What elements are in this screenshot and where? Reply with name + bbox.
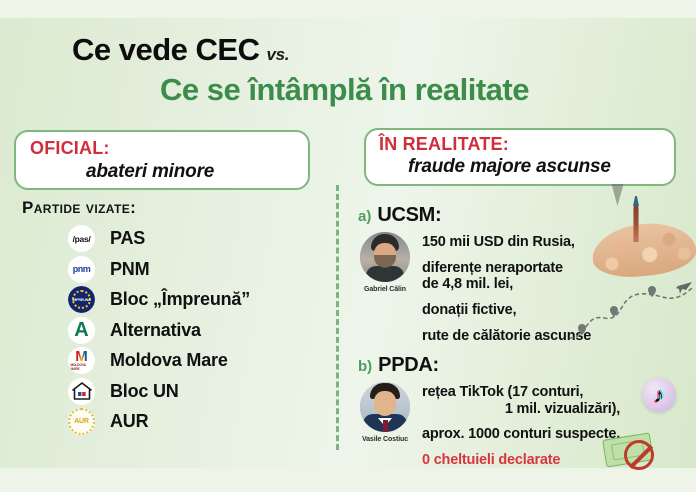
title-line-1-text: Ce vede CEC: [72, 32, 259, 67]
reality-kicker: ÎN REALITATE:: [379, 134, 509, 155]
official-subtitle: abateri minore: [86, 161, 214, 183]
impreuna-logo-icon: ÎMPREUNĂ: [68, 286, 95, 313]
eu-stars-icon: ÎMPREUNĂ: [72, 290, 91, 309]
official-kicker: OFICIAL:: [30, 138, 110, 159]
aur-logo-text: AUR: [74, 418, 89, 425]
case-line-highlight: 0 cheltuieli declarate: [422, 452, 620, 469]
case-line: aprox. 1000 conturi suspecte,: [422, 426, 620, 443]
list-item[interactable]: ÎMPREUNĂ Bloc „Împreună”: [68, 285, 318, 314]
dotted-travel-route-icon: [566, 280, 696, 346]
alternativa-logo-icon: A: [68, 317, 95, 344]
reality-callout: ÎN REALITATE: fraude majore ascunse: [364, 128, 676, 186]
page-title: Ce vede CECvs. Ce se întâmplă în realita…: [0, 28, 696, 116]
party-name: PAS: [110, 228, 145, 249]
official-callout: OFICIAL: abateri minore: [14, 130, 310, 190]
moldova-mare-logo-subtext: MOLDOVA MARE: [71, 363, 93, 371]
case-line: rețea TikTok (17 conturi, 1 mil. vizuali…: [422, 384, 620, 417]
list-item[interactable]: pnm PNM: [68, 255, 318, 284]
title-line-2: Ce se întâmplă în realitate: [160, 72, 529, 108]
pnm-logo-icon: pnm: [68, 256, 95, 283]
person-name: Gabriel Călin: [364, 286, 406, 293]
case-header: b) PPDA:: [358, 354, 688, 377]
party-name: AUR: [110, 411, 148, 432]
tiktok-note-glyph: ♪: [654, 385, 665, 406]
house-icon: [71, 381, 93, 401]
bloc-un-logo-icon: [68, 378, 95, 405]
alternativa-logo-text: A: [74, 320, 88, 340]
money-prohibited-icon: [604, 430, 662, 470]
person-name: Vasile Costiuc: [362, 436, 408, 443]
case-line-part: rețea TikTok (17 conturi,: [422, 384, 583, 400]
case-lines: rețea TikTok (17 conturi, 1 mil. vizuali…: [422, 382, 620, 478]
parties-label: Partide vizate:: [22, 198, 136, 218]
list-item[interactable]: AUR AUR: [68, 407, 318, 436]
party-name: Bloc „Împreună”: [110, 289, 250, 310]
pnm-logo-text: pnm: [73, 264, 91, 274]
avatar: [360, 382, 410, 432]
party-name: Bloc UN: [110, 381, 179, 402]
avatar-block: Gabriel Călin: [358, 232, 412, 353]
case-line-part: diferențe neraportate: [422, 260, 563, 276]
aur-circle-icon: AUR: [68, 408, 95, 435]
vertical-divider: [336, 185, 339, 450]
avatar-block: Vasile Costiuc: [358, 382, 412, 478]
avatar: [360, 232, 410, 282]
party-name: Alternativa: [110, 320, 201, 341]
list-item[interactable]: M MOLDOVA MARE Moldova Mare: [68, 346, 318, 375]
eu-circle-icon: ÎMPREUNĂ: [68, 286, 95, 313]
moldova-mare-logo-text: M: [75, 350, 88, 364]
list-item[interactable]: A Alternativa: [68, 316, 318, 345]
aur-logo-icon: AUR: [68, 408, 95, 435]
infographic-canvas: Ce vede CECvs. Ce se întâmplă în realita…: [0, 0, 696, 492]
case-letter: a): [358, 208, 371, 225]
party-name: Moldova Mare: [110, 350, 228, 371]
title-vs-text: vs.: [266, 45, 289, 64]
case-letter: b): [358, 358, 372, 375]
tiktok-icon[interactable]: ♪: [642, 378, 676, 412]
pas-logo-text: /pas/: [73, 234, 91, 244]
case-title: UCSM:: [377, 204, 441, 227]
moldova-mare-logo-icon: M MOLDOVA MARE: [68, 347, 95, 374]
list-item[interactable]: /pas/ PAS: [68, 224, 318, 253]
party-name: PNM: [110, 259, 149, 280]
case-line: 150 mii USD din Rusia,: [422, 234, 591, 251]
reality-subtitle: fraude majore ascunse: [408, 156, 611, 178]
kremlin-collage-icon: [592, 196, 696, 282]
title-line-1: Ce vede CECvs.: [72, 32, 289, 68]
case-line-part: de 4,8 mil. lei,: [422, 276, 513, 292]
prohibition-sign-icon: [624, 440, 654, 470]
moldova-mare-mark: M MOLDOVA MARE: [71, 351, 93, 371]
list-item[interactable]: Bloc UN: [68, 377, 318, 406]
impreuna-logo-text: ÎMPREUNĂ: [72, 298, 90, 302]
pas-logo-icon: /pas/: [68, 225, 95, 252]
case-title: PPDA:: [378, 354, 439, 377]
parties-list: /pas/ PAS pnm PNM ÎMPREUNĂ Bloc „Împreun…: [68, 224, 318, 438]
case-line-part: 1 mil. vizualizări),: [422, 401, 620, 418]
